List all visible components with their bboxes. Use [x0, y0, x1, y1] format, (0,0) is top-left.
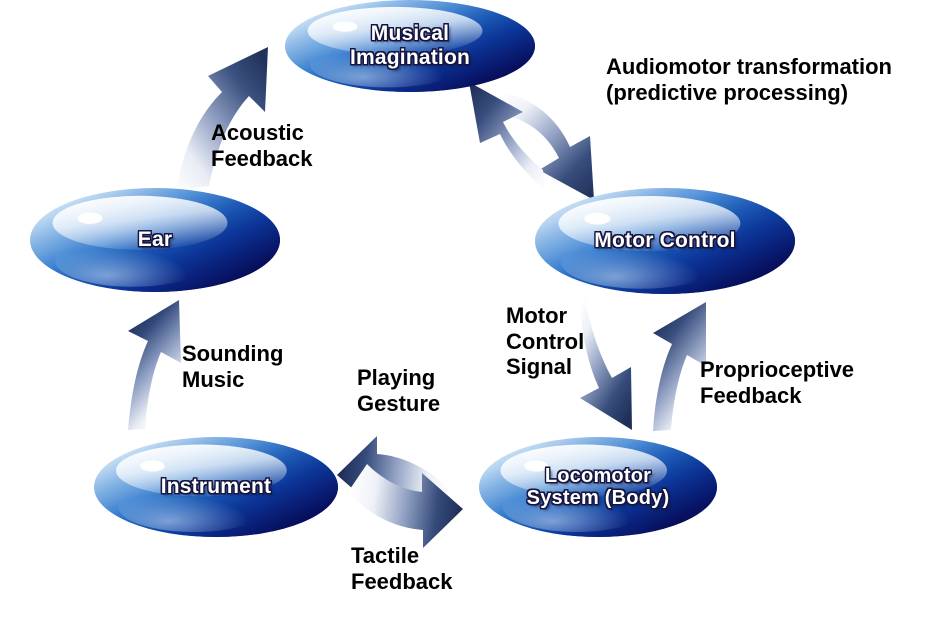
- node-gloss: [308, 7, 483, 55]
- proprioceptive-feedback-arrow: [653, 302, 706, 431]
- node-specular-dot: [584, 213, 610, 225]
- motor-control-signal-arrow: [579, 288, 632, 430]
- node-specular-dot: [78, 212, 103, 223]
- diagram-graphics: [0, 0, 949, 618]
- node-gloss: [500, 445, 667, 497]
- node-ear[interactable]: [30, 188, 280, 292]
- sounding-music-arrow: [128, 300, 181, 430]
- node-locomotor-system[interactable]: [479, 437, 717, 537]
- node-specular-dot: [140, 461, 164, 472]
- node-gloss: [116, 445, 287, 497]
- node-instrument[interactable]: [94, 437, 338, 537]
- node-specular-dot: [524, 461, 548, 472]
- node-gloss: [53, 196, 228, 250]
- acoustic-feedback-arrow: [176, 47, 268, 190]
- diagram-canvas: Musical ImaginationMotor ControlEarLocom…: [0, 0, 949, 618]
- node-musical-imagination[interactable]: [285, 0, 535, 92]
- node-motor-control[interactable]: [535, 188, 795, 294]
- node-gloss: [558, 196, 740, 251]
- node-specular-dot: [333, 22, 358, 32]
